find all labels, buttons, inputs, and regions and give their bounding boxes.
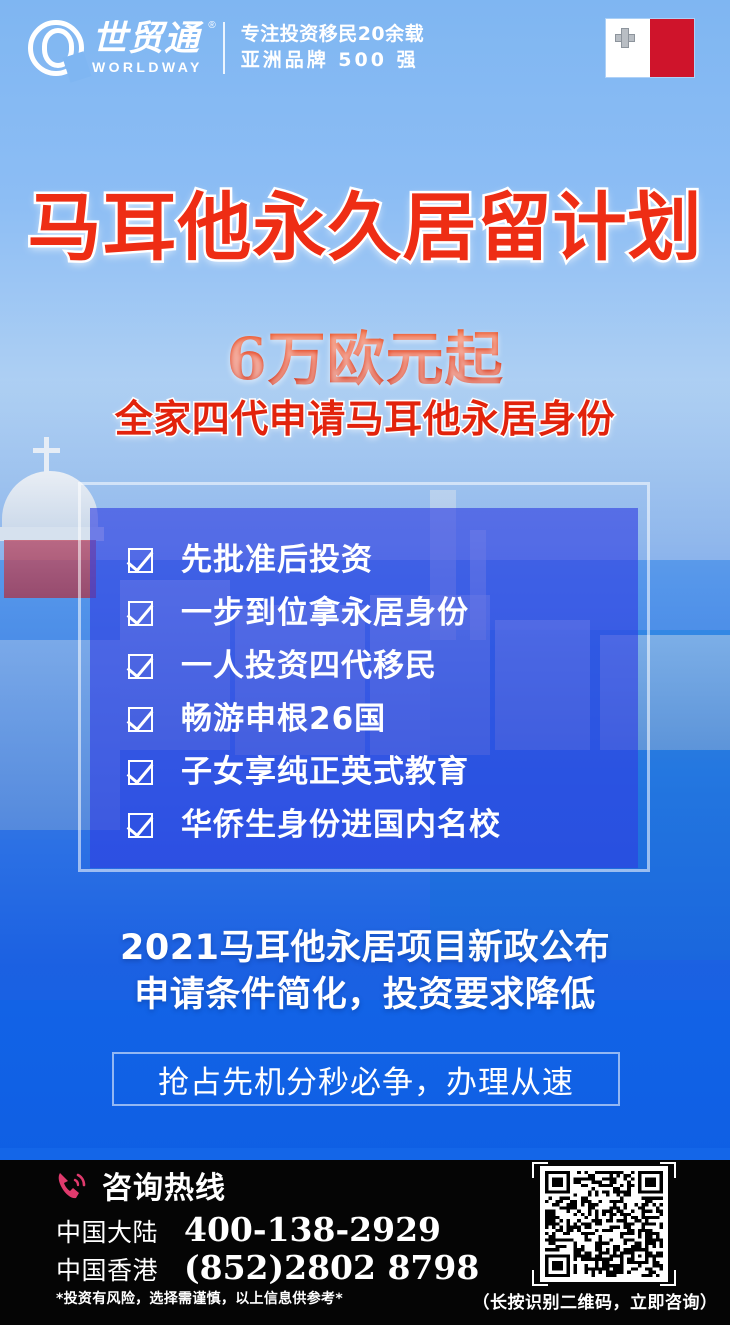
tagline-line-2: 亚洲品牌 500 强 (241, 48, 424, 74)
region-label: 中国大陆 (56, 1213, 184, 1249)
qr-caption: （长按识别二维码，立即咨询） (470, 1288, 720, 1313)
header-divider (223, 22, 225, 74)
cta-banner: 抢占先机分秒必争，办理从速 (112, 1052, 620, 1106)
logo-english-name: WORLDWAY (92, 60, 203, 74)
registered-mark-icon: ® (208, 20, 215, 31)
feature-label: 一步到位拿永居身份 (181, 598, 469, 629)
tagline-line-1: 专注投资移民20余载 (241, 22, 424, 48)
region-label: 中国香港 (56, 1251, 184, 1287)
list-item: 一步到位拿永居身份 (90, 587, 638, 640)
footer-accent-line (0, 1148, 730, 1160)
feature-label: 畅游申根26国 (181, 704, 386, 735)
qr-code-block[interactable] (532, 1166, 676, 1282)
page-title: 马耳他永久居留计划 (0, 168, 730, 275)
list-item: 畅游申根26国 (90, 693, 638, 746)
news-block: 2021马耳他永居项目新政公布 申请条件简化，投资要求降低 (0, 925, 730, 1019)
qr-code-image[interactable] (540, 1166, 668, 1282)
hotline-header: 咨询热线 (56, 1163, 226, 1207)
disclaimer-text: *投资有风险，选择需谨慎，以上信息供参考* (56, 1288, 343, 1308)
check-box-icon (128, 707, 153, 732)
george-cross-emblem (615, 28, 635, 48)
check-box-icon (128, 813, 153, 838)
phone-number[interactable]: 400-138-2929 (184, 1210, 441, 1249)
feature-list: 先批准后投资 一步到位拿永居身份 一人投资四代移民 畅游申根26国 子女享纯正英… (90, 534, 638, 852)
feature-label: 子女享纯正英式教育 (181, 757, 469, 788)
phone-row-mainland[interactable]: 中国大陆 400-138-2929 (56, 1210, 441, 1249)
news-line-1: 2021马耳他永居项目新政公布 (0, 925, 730, 972)
worldway-logo-icon (28, 20, 84, 76)
price-headline: 6万欧元起 (0, 312, 730, 396)
brand-logo[interactable]: 世贸通 ® WORLDWAY (28, 20, 203, 76)
phone-number[interactable]: (852)2802 8798 (184, 1248, 479, 1287)
malta-flag-icon (606, 19, 694, 77)
feature-label: 先批准后投资 (181, 545, 373, 576)
phone-icon (56, 1167, 90, 1203)
phone-row-hongkong[interactable]: 中国香港 (852)2802 8798 (56, 1248, 479, 1287)
check-box-icon (128, 654, 153, 679)
list-item: 子女享纯正英式教育 (90, 746, 638, 799)
list-item: 先批准后投资 (90, 534, 638, 587)
brand-tagline: 专注投资移民20余载 亚洲品牌 500 强 (241, 22, 424, 73)
logo-chinese-name: 世贸通 (92, 22, 203, 57)
feature-label: 一人投资四代移民 (181, 651, 437, 682)
news-line-2: 申请条件简化，投资要求降低 (0, 972, 730, 1019)
list-item: 华侨生身份进国内名校 (90, 799, 638, 852)
subtitle: 全家四代申请马耳他永居身份 (0, 388, 730, 443)
cta-text: 抢占先机分秒必争，办理从速 (158, 1057, 574, 1102)
list-item: 一人投资四代移民 (90, 640, 638, 693)
feature-panel: 先批准后投资 一步到位拿永居身份 一人投资四代移民 畅游申根26国 子女享纯正英… (90, 508, 638, 868)
feature-label: 华侨生身份进国内名校 (181, 810, 501, 841)
hotline-label: 咨询热线 (102, 1163, 226, 1207)
check-box-icon (128, 601, 153, 626)
poster-root: 世贸通 ® WORLDWAY 专注投资移民20余载 亚洲品牌 500 强 马耳他… (0, 0, 730, 1325)
check-box-icon (128, 548, 153, 573)
check-box-icon (128, 760, 153, 785)
